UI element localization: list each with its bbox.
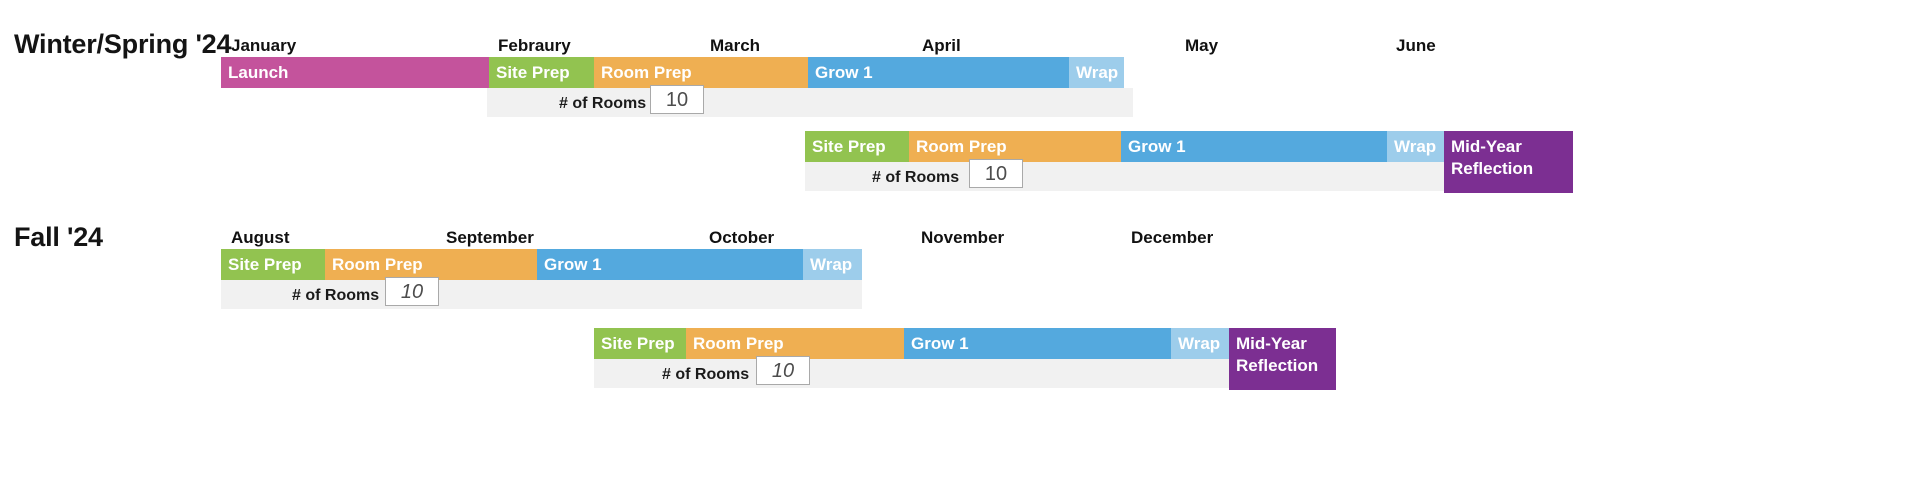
phase-segment-grow-1[interactable]: Grow 1 bbox=[1121, 131, 1387, 162]
rooms-value: 10 bbox=[401, 282, 423, 302]
month-label-may: May bbox=[1185, 37, 1218, 54]
month-label-december: December bbox=[1131, 229, 1213, 246]
phase-segment-mid-year-reflection[interactable]: Mid-Year Reflection bbox=[1229, 328, 1336, 390]
phase-bar-row: Launch Site Prep Room Prep Grow 1 Wrap bbox=[221, 57, 1124, 88]
phase-segment-grow-1[interactable]: Grow 1 bbox=[808, 57, 1069, 88]
rooms-label: # of Rooms bbox=[662, 367, 749, 383]
month-label-april: April bbox=[922, 37, 961, 54]
month-label-june: June bbox=[1396, 37, 1436, 54]
rooms-input[interactable]: 10 bbox=[650, 85, 704, 114]
phase-segment-wrap[interactable]: Wrap bbox=[1387, 131, 1444, 162]
month-label-january: January bbox=[231, 37, 296, 54]
phase-segment-room-prep[interactable]: Room Prep bbox=[686, 328, 904, 359]
rooms-input[interactable]: 10 bbox=[756, 356, 810, 385]
phase-segment-grow-1[interactable]: Grow 1 bbox=[537, 249, 803, 280]
month-label-march: March bbox=[710, 37, 760, 54]
phase-bar-row: Site Prep Room Prep Grow 1 Wrap bbox=[221, 249, 862, 280]
phase-segment-site-prep[interactable]: Site Prep bbox=[489, 57, 594, 88]
phase-segment-room-prep[interactable]: Room Prep bbox=[909, 131, 1121, 162]
phase-segment-site-prep[interactable]: Site Prep bbox=[805, 131, 909, 162]
phase-segment-grow-1[interactable]: Grow 1 bbox=[904, 328, 1171, 359]
section-title-fall: Fall '24 bbox=[14, 224, 103, 251]
program-timeline: Winter/Spring '24 January Febraury March… bbox=[0, 0, 1922, 504]
phase-segment-wrap[interactable]: Wrap bbox=[803, 249, 862, 280]
month-label-september: September bbox=[446, 229, 534, 246]
phase-segment-wrap[interactable]: Wrap bbox=[1069, 57, 1124, 88]
rooms-input[interactable]: 10 bbox=[969, 159, 1023, 188]
phase-segment-mid-year-reflection[interactable]: Mid-Year Reflection bbox=[1444, 131, 1573, 193]
phase-segment-room-prep[interactable]: Room Prep bbox=[325, 249, 537, 280]
month-label-august: August bbox=[231, 229, 290, 246]
rooms-label: # of Rooms bbox=[559, 96, 646, 112]
rooms-input[interactable]: 10 bbox=[385, 277, 439, 306]
phase-segment-site-prep[interactable]: Site Prep bbox=[221, 249, 325, 280]
section-title-winter-spring: Winter/Spring '24 bbox=[14, 31, 231, 58]
phase-segment-launch[interactable]: Launch bbox=[221, 57, 489, 88]
month-label-october: October bbox=[709, 229, 774, 246]
phase-segment-site-prep[interactable]: Site Prep bbox=[594, 328, 686, 359]
month-label-november: November bbox=[921, 229, 1004, 246]
month-label-febraury: Febraury bbox=[498, 37, 571, 54]
phase-bar-row: Site Prep Room Prep Grow 1 Wrap Mid-Year… bbox=[805, 131, 1534, 162]
rooms-value: 10 bbox=[666, 90, 688, 110]
phase-segment-room-prep[interactable]: Room Prep bbox=[594, 57, 808, 88]
rooms-value: 10 bbox=[985, 164, 1007, 184]
phase-bar-row: Site Prep Room Prep Grow 1 Wrap Mid-Year… bbox=[594, 328, 1338, 359]
rooms-label: # of Rooms bbox=[292, 288, 379, 304]
rooms-value: 10 bbox=[772, 361, 794, 381]
phase-segment-wrap[interactable]: Wrap bbox=[1171, 328, 1229, 359]
rooms-label: # of Rooms bbox=[872, 170, 959, 186]
